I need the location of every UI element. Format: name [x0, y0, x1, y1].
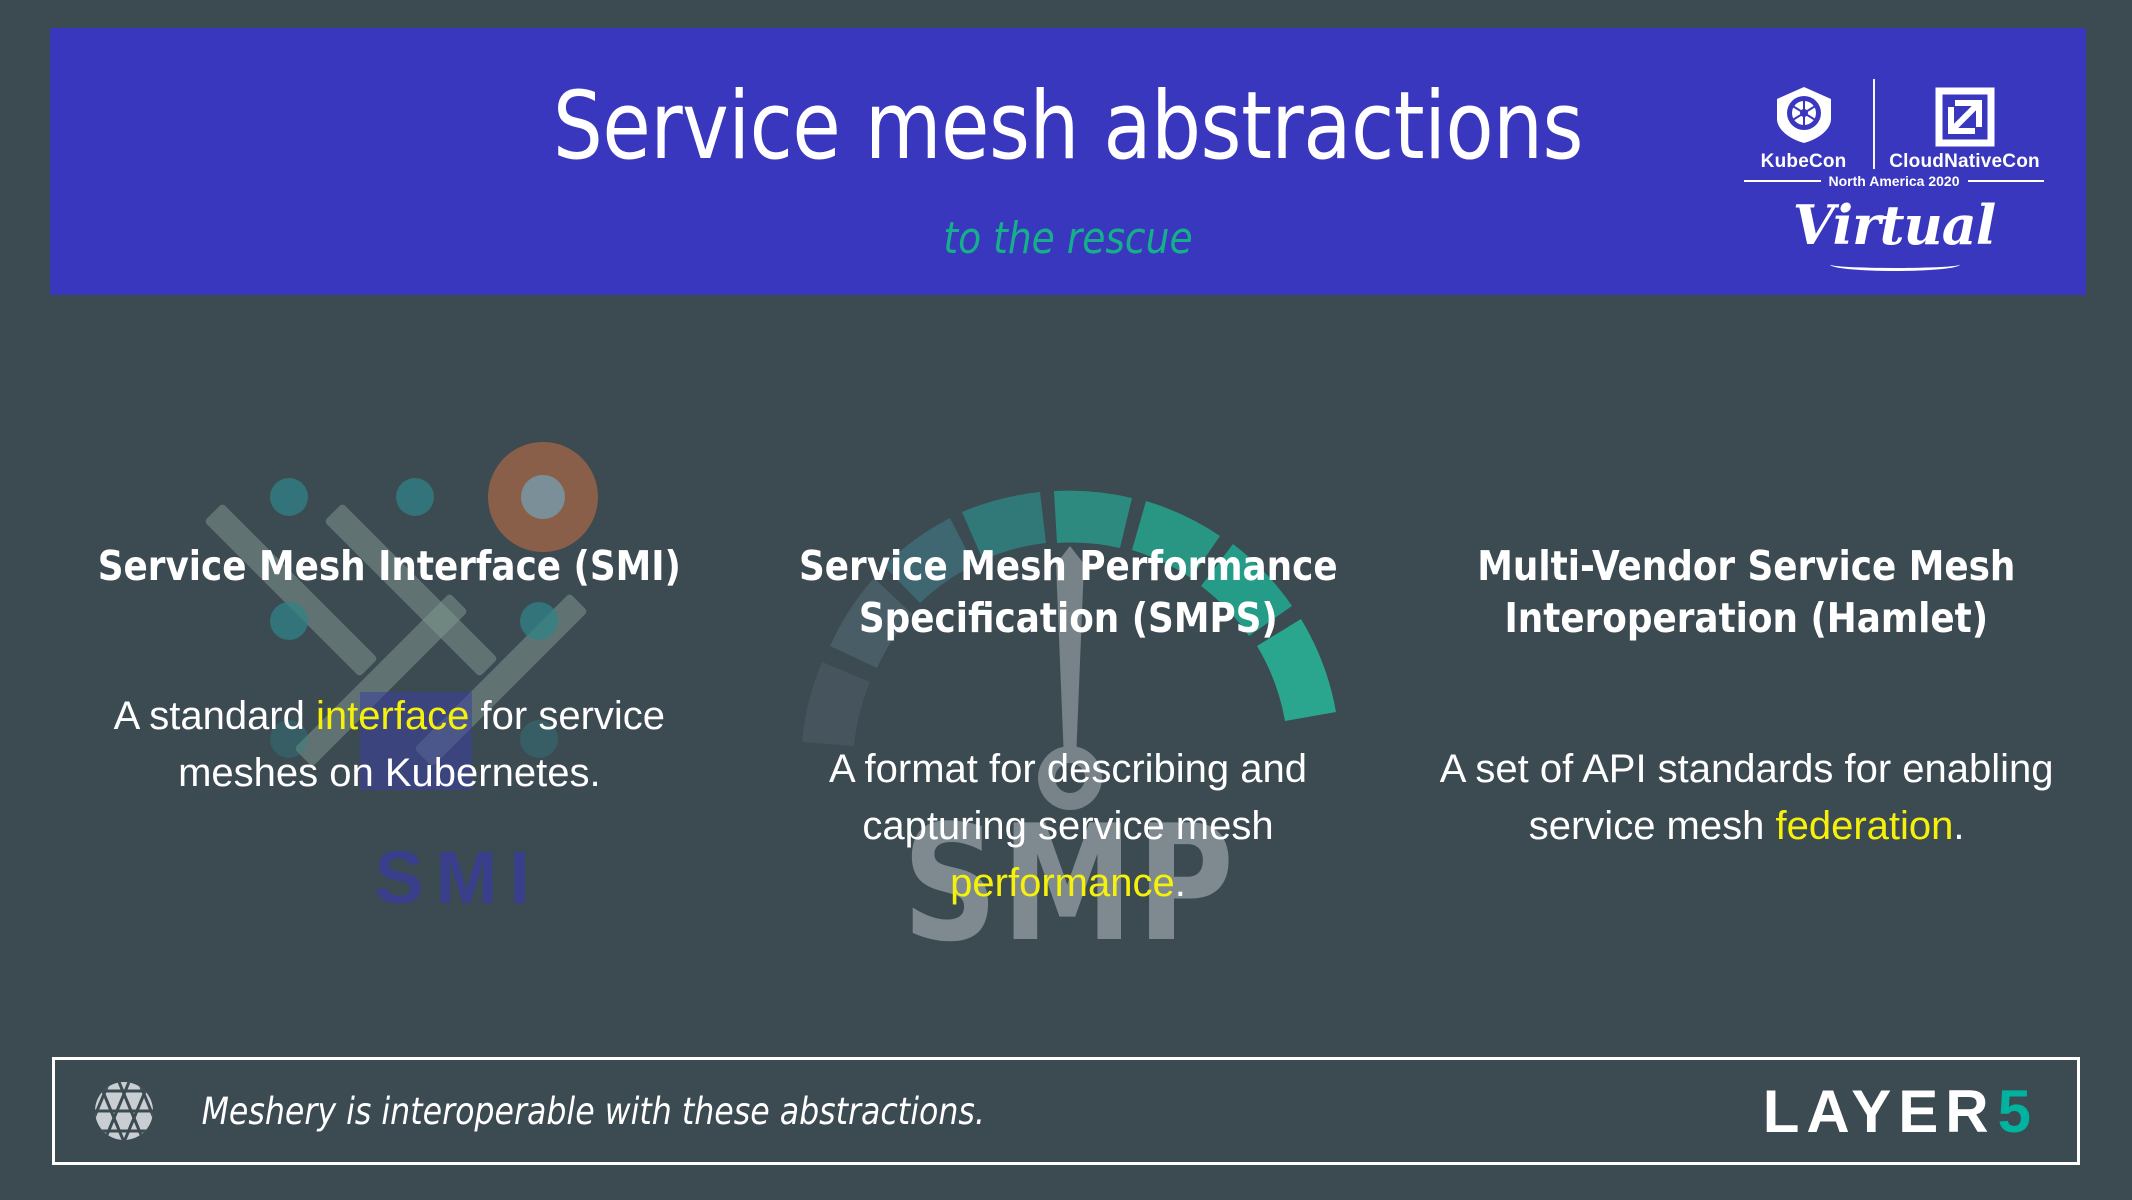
- layer5-logo: LAYER 5: [1763, 1077, 2031, 1146]
- column-hamlet-body: A set of API standards for enabling serv…: [1429, 741, 2064, 855]
- column-smi: Service Mesh Interface (SMI) A standard …: [50, 540, 729, 911]
- column-smi-heading: Service Mesh Interface (SMI): [82, 540, 698, 592]
- column-hamlet: Multi-Vendor Service Mesh Interoperation…: [1407, 540, 2086, 911]
- conference-location-year: North America 2020: [1829, 173, 1960, 189]
- column-smps-body: A format for describing and capturing se…: [751, 741, 1386, 911]
- column-hamlet-body-after: .: [1953, 804, 1964, 848]
- column-smps-body-before: A format for describing and capturing se…: [829, 747, 1307, 848]
- abstractions-columns: Service Mesh Interface (SMI) A standard …: [50, 540, 2086, 911]
- virtual-underline-flourish: [1830, 258, 1960, 271]
- column-hamlet-heading: Multi-Vendor Service Mesh Interoperation…: [1439, 540, 2055, 645]
- meshery-logo-icon: [93, 1080, 155, 1142]
- layer5-digit: 5: [1998, 1077, 2031, 1146]
- smi-node-2: [396, 478, 434, 516]
- kubernetes-helm-icon: [1771, 85, 1837, 147]
- slide-header: Service mesh abstractions to the rescue: [50, 28, 2086, 295]
- column-hamlet-highlight: federation: [1775, 804, 1953, 848]
- column-smps-highlight: performance: [950, 861, 1175, 905]
- footer-bar: Meshery is interoperable with these abst…: [52, 1057, 2080, 1165]
- kubecon-label: KubeCon: [1761, 151, 1847, 173]
- smi-brown-circle: [488, 442, 598, 552]
- cloudnativecon-label: CloudNativeCon: [1889, 151, 2040, 173]
- layer5-wordmark: LAYER: [1763, 1077, 1996, 1146]
- column-smps: Service Mesh Performance Specification (…: [729, 540, 1408, 911]
- column-smps-body-after: .: [1175, 861, 1186, 905]
- kubecon-cloudnativecon-logo: KubeCon CloudNativeCon North America 202…: [1744, 53, 2044, 278]
- smi-node-1: [270, 478, 308, 516]
- smi-brown-circle-center: [521, 475, 565, 519]
- logo-rule-left: [1744, 180, 1821, 182]
- conference-format-label: Virtual: [1744, 193, 2044, 257]
- column-smps-heading: Service Mesh Performance Specification (…: [760, 540, 1376, 645]
- logo-divider: [1873, 79, 1875, 169]
- column-smi-highlight: interface: [316, 694, 469, 738]
- logo-rule-right: [1968, 180, 2045, 182]
- column-smi-body: A standard interface for service meshes …: [72, 688, 707, 802]
- page-title: Service mesh abstractions: [121, 78, 2014, 177]
- footer-note: Meshery is interoperable with these abst…: [202, 1090, 985, 1133]
- cloudnativecon-icon: [1935, 87, 1995, 147]
- slide-canvas: SMI SMP Service mesh abst: [0, 0, 2132, 1200]
- column-smi-body-before: A standard: [114, 694, 316, 738]
